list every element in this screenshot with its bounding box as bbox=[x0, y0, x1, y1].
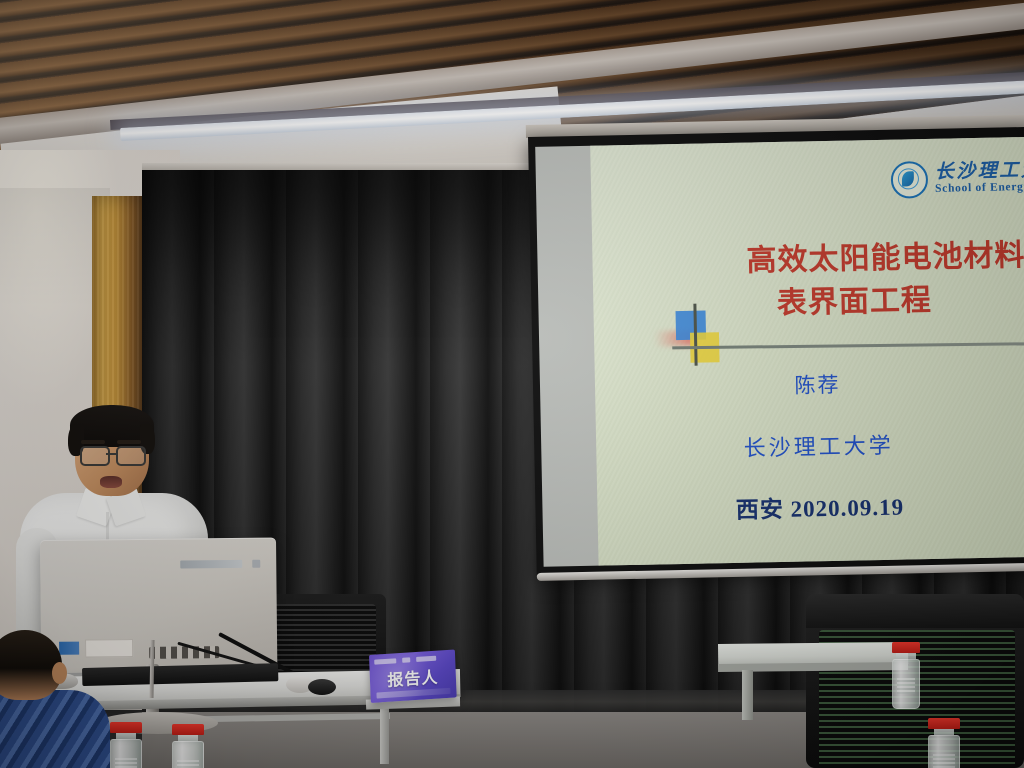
speaker-mouth bbox=[100, 476, 122, 488]
water-bottle bbox=[110, 722, 142, 768]
nameplate-logo-chip bbox=[374, 658, 396, 664]
audience-member bbox=[0, 630, 108, 768]
audience-head bbox=[0, 630, 62, 700]
university-name-chinese: 长沙理工大学 能源 bbox=[935, 159, 1024, 182]
speaker-eyebrow-right bbox=[117, 440, 141, 444]
water-bottle bbox=[892, 642, 920, 709]
glasses-lens-left-icon bbox=[80, 446, 110, 466]
computer-rear-marking bbox=[252, 560, 260, 568]
speaker-nameplate: 报告人 bbox=[369, 649, 457, 703]
glasses-bridge bbox=[106, 453, 116, 455]
bottle-body bbox=[172, 741, 204, 768]
bottle-cap bbox=[172, 724, 204, 735]
venue-and-date: 西安 2020.09.19 bbox=[597, 485, 1024, 528]
audience-striped-shirt bbox=[0, 690, 110, 768]
computer-brand-logo bbox=[180, 560, 242, 569]
bottle-cap bbox=[892, 642, 920, 653]
nameplate-logo-chip bbox=[416, 656, 436, 662]
bottle-body bbox=[928, 735, 960, 768]
headset[interactable] bbox=[286, 676, 346, 696]
presenter-name: 陈荐 bbox=[595, 365, 1024, 404]
glasses-lens-right-icon bbox=[116, 446, 146, 466]
school-name-english: School of Energy and bbox=[935, 180, 1024, 195]
bottle-cap bbox=[928, 718, 960, 729]
water-bottle bbox=[928, 718, 960, 768]
slide-title-line-1: 高效太阳能电池材料的 bbox=[720, 234, 1024, 284]
water-bottle bbox=[172, 724, 204, 768]
presenter-affiliation: 长沙理工大学 bbox=[596, 425, 1024, 466]
presentation-photo-scene: 长沙理工大学 能源 School of Energy and 高效太阳能电池材料… bbox=[0, 0, 1024, 768]
slide-decoration bbox=[661, 307, 782, 369]
projection-screen: 长沙理工大学 能源 School of Energy and 高效太阳能电池材料… bbox=[528, 127, 1024, 582]
bottle-cap bbox=[110, 722, 142, 733]
speaker-eyebrow-left bbox=[81, 440, 105, 444]
headset-earcup-right bbox=[308, 679, 336, 695]
university-seal-icon bbox=[891, 161, 929, 199]
slide-content: 长沙理工大学 能源 School of Energy and 高效太阳能电池材料… bbox=[590, 137, 1024, 566]
nameplate-logo-chip bbox=[402, 657, 410, 663]
university-logo: 长沙理工大学 能源 School of Energy and bbox=[891, 157, 1024, 199]
desk-leg bbox=[380, 706, 389, 764]
side-table-leg bbox=[742, 670, 753, 720]
chair-headrest bbox=[806, 594, 1024, 628]
university-logo-text: 长沙理工大学 能源 School of Energy and bbox=[935, 159, 1024, 195]
bottle-body bbox=[110, 739, 142, 768]
audience-ear bbox=[52, 662, 67, 684]
bottle-body bbox=[892, 659, 920, 709]
